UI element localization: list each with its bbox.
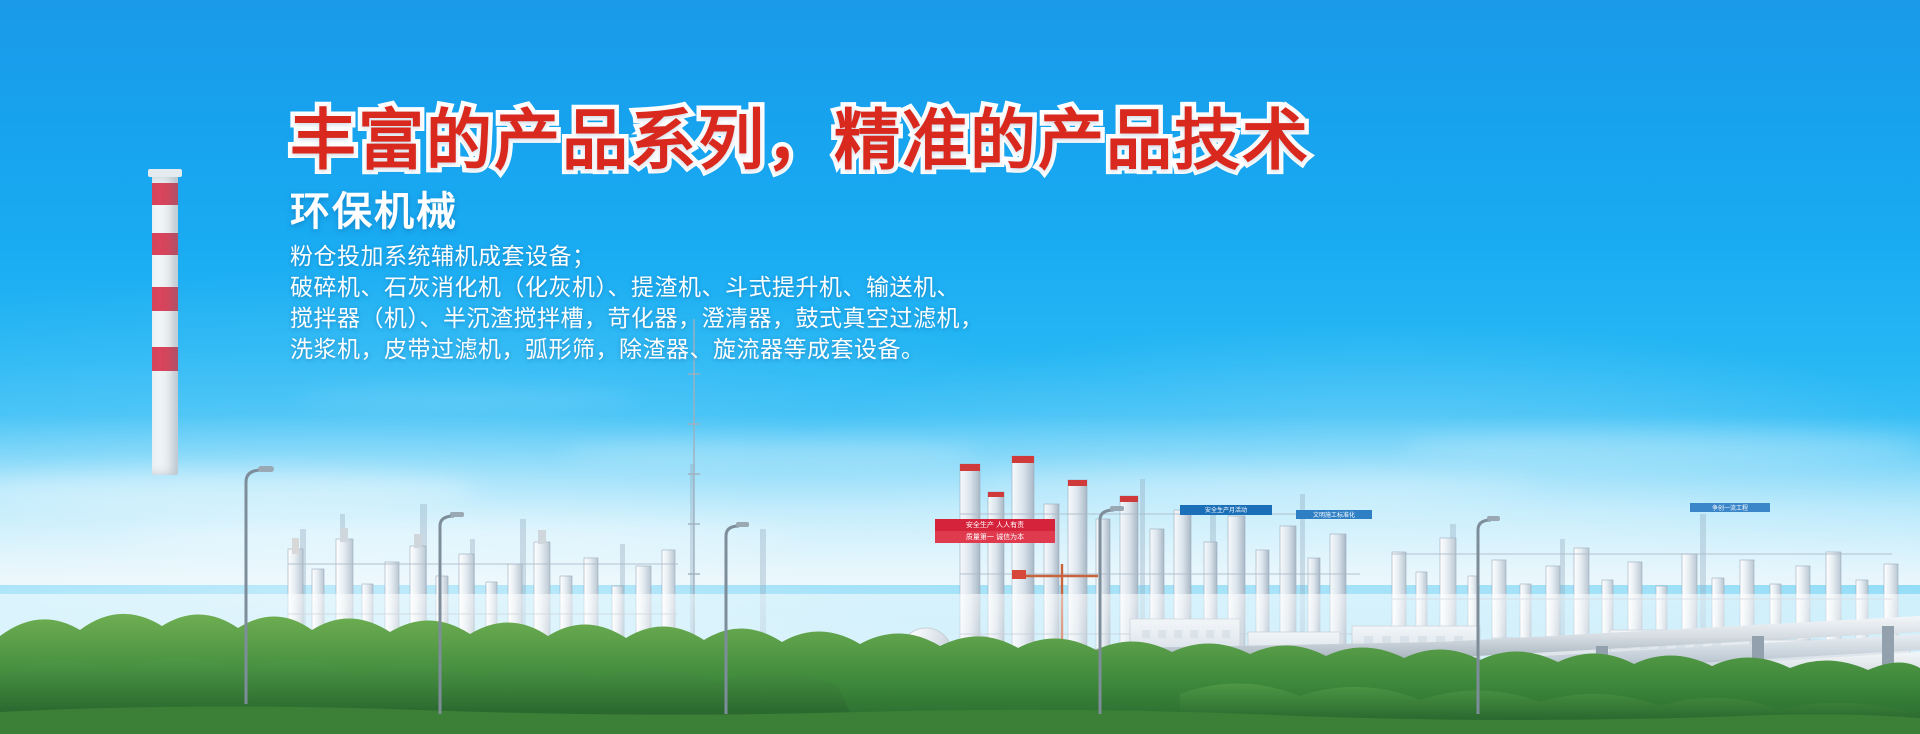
hero-banner: 安全生产 人人有责 质量第一 诚信为本 安全生产月活动 文明施工标准化 争创一流… (0, 0, 1920, 734)
street-lamps (0, 374, 1920, 734)
